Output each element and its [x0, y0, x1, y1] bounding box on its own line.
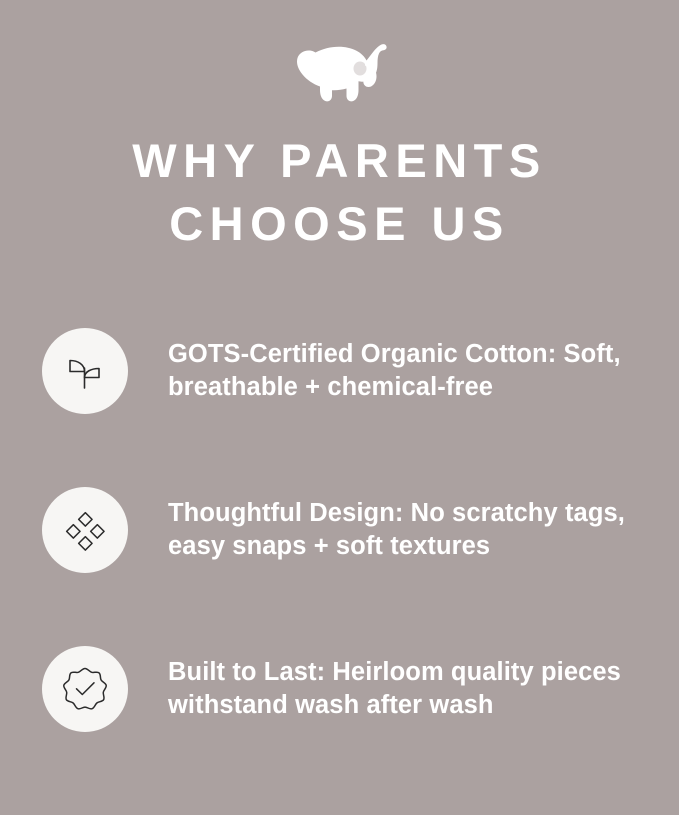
feature-icon-badge — [42, 646, 128, 732]
brand-logo — [280, 36, 400, 108]
feature-list: GOTS-Certified Organic Cotton: Soft, bre… — [0, 328, 679, 732]
feature-item-thoughtful-design: Thoughtful Design: No scratchy tags, eas… — [42, 487, 679, 573]
feature-icon-badge — [42, 328, 128, 414]
feature-icon-badge — [42, 487, 128, 573]
feature-text: Thoughtful Design: No scratchy tags, eas… — [168, 497, 638, 565]
four-diamonds-icon — [62, 507, 108, 553]
elephant-logo-icon — [285, 39, 395, 105]
sprout-leaf-icon — [62, 348, 108, 394]
feature-text: Built to Last: Heirloom quality pieces w… — [168, 656, 638, 724]
page-title: WHY PARENTS CHOOSE US — [40, 130, 640, 255]
feature-item-organic-cotton: GOTS-Certified Organic Cotton: Soft, bre… — [42, 328, 679, 414]
promo-page: WHY PARENTS CHOOSE US GOTS-Certified Org… — [0, 0, 679, 815]
rosette-check-badge-icon — [60, 664, 110, 714]
feature-text: GOTS-Certified Organic Cotton: Soft, bre… — [168, 338, 638, 406]
feature-item-built-to-last: Built to Last: Heirloom quality pieces w… — [42, 646, 679, 732]
